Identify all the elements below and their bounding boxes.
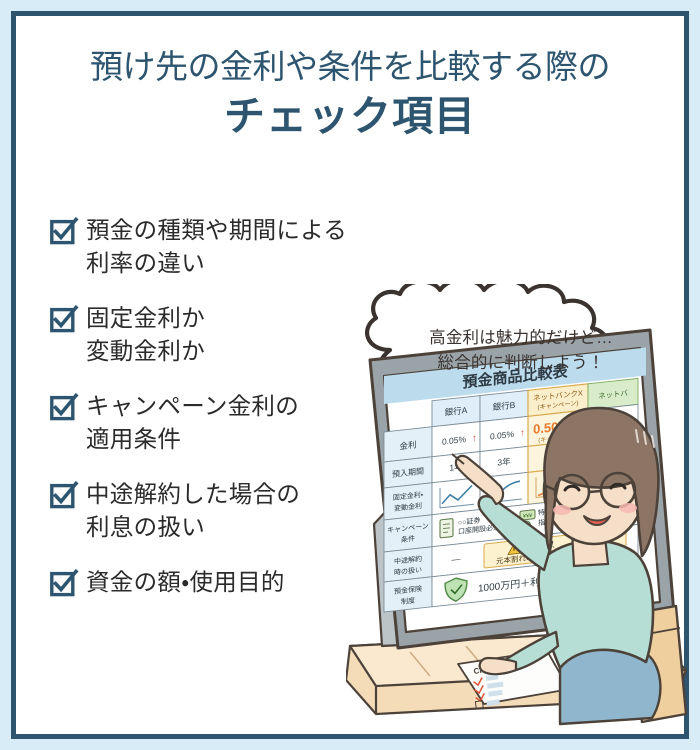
- svg-text:↑: ↑: [472, 433, 477, 445]
- checked-checkbox-icon: [50, 570, 77, 597]
- list-item[interactable]: 中途解約した場合の 利息の扱い: [50, 478, 390, 544]
- illustration-woman-comparing-deposits: 預金商品比較表 銀行A 銀行B ネットバンクX (キャンペーン) ネットバ 金利…: [346, 284, 694, 739]
- title-line-2: チェック項目: [16, 90, 684, 142]
- list-item-label: 預金の種類や期間による 利率の違い: [86, 214, 347, 280]
- list-item[interactable]: 固定金利か 変動金利か: [50, 302, 390, 368]
- checklist: 預金の種類や期間による 利率の違い 固定金利か 変動金利か キャンペーン金利の …: [50, 214, 390, 621]
- list-item[interactable]: 預金の種類や期間による 利率の違い: [50, 214, 390, 280]
- list-item-label: キャンペーン金利の 適用条件: [86, 390, 299, 456]
- list-item-label: 固定金利か 変動金利か: [86, 302, 205, 368]
- checked-checkbox-icon: [50, 218, 77, 245]
- poster-frame: 預け先の金利や条件を比較する際の チェック項目 預金の種類や期間による 利率の違…: [11, 11, 689, 739]
- svg-text:—: —: [452, 554, 462, 565]
- list-item[interactable]: 資金の額・使用目的: [50, 566, 390, 599]
- list-item-label: 中途解約した場合の 利息の扱い: [86, 478, 300, 544]
- svg-text:金利: 金利: [400, 439, 417, 451]
- checked-checkbox-icon: [50, 306, 77, 333]
- title-line-1: 預け先の金利や条件を比較する際の: [16, 44, 684, 90]
- svg-text:¥¥¥: ¥¥¥: [523, 513, 533, 520]
- thought-bubble-text: 高金利は魅力的だけど… 総合的に判断しよう！: [382, 326, 660, 376]
- checked-checkbox-icon: [50, 482, 77, 509]
- list-item-label: 資金の額・使用目的: [86, 566, 285, 599]
- svg-text:↑: ↑: [520, 428, 525, 440]
- document-icon: [440, 519, 453, 538]
- svg-text:3年: 3年: [497, 456, 511, 467]
- checked-checkbox-icon: [50, 394, 77, 421]
- page-title: 預け先の金利や条件を比較する際の チェック項目: [16, 44, 684, 142]
- list-item[interactable]: キャンペーン金利の 適用条件: [50, 390, 390, 456]
